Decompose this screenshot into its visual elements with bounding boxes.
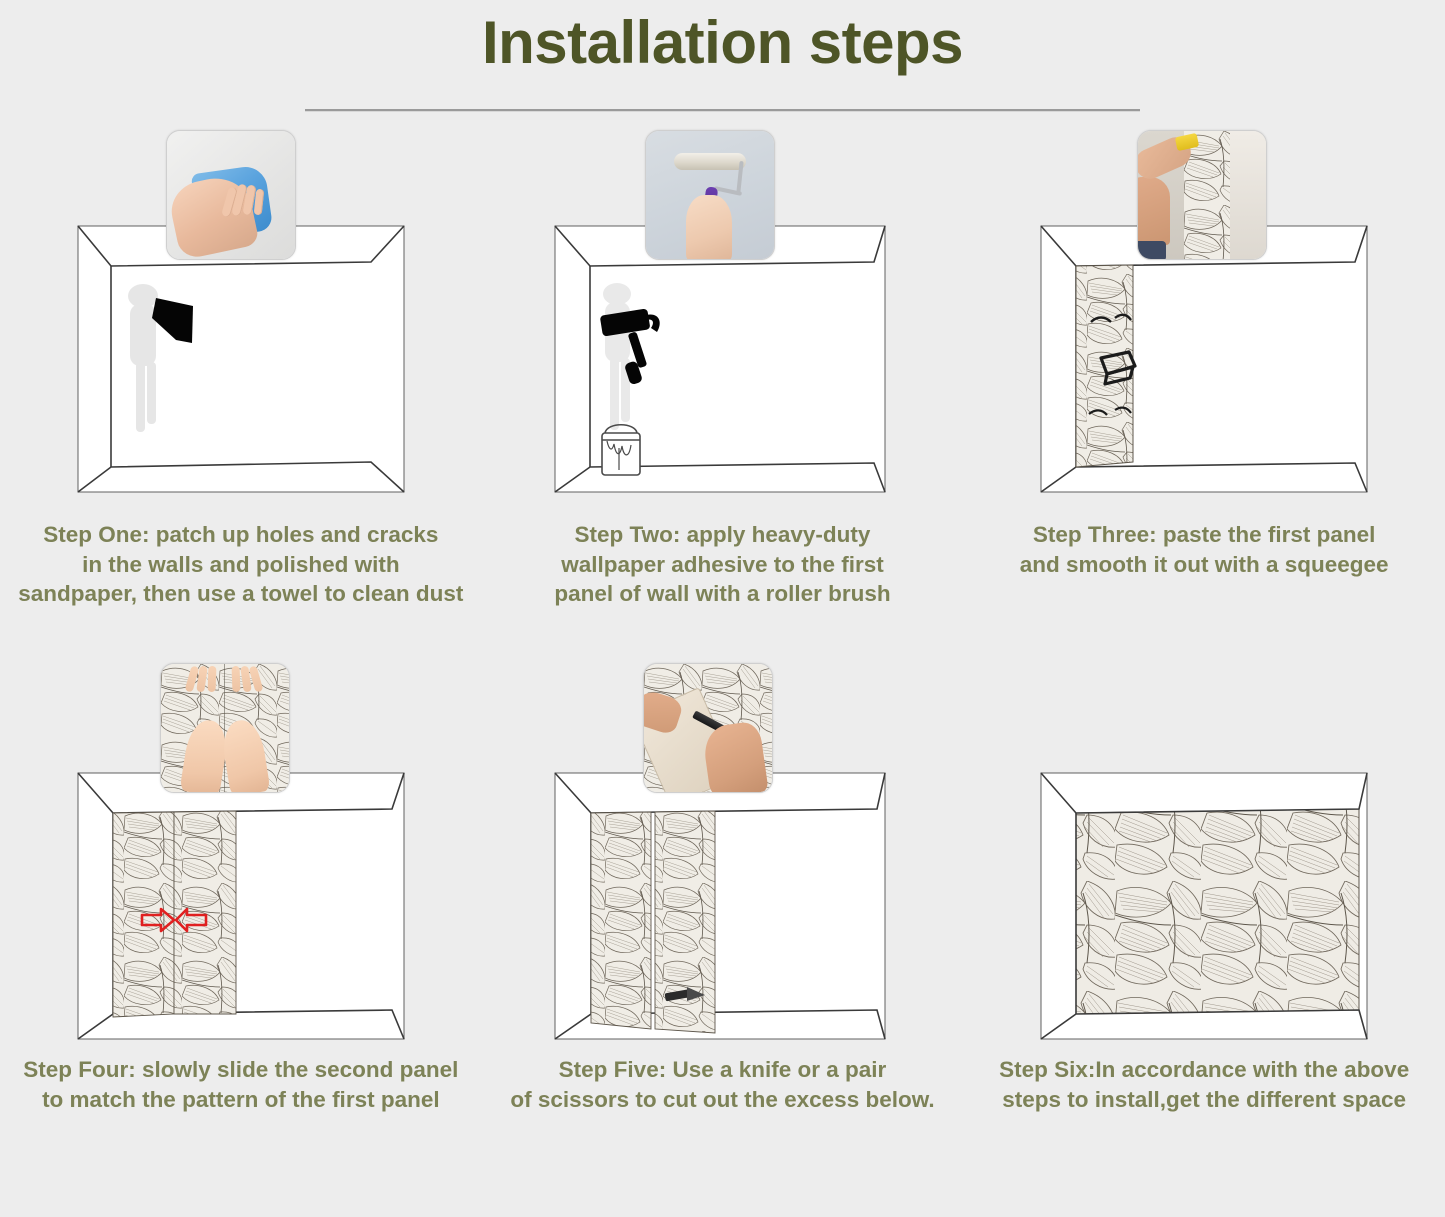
step-five-card: Step Five: Use a knife or a pair of scis…: [482, 661, 964, 1196]
caption-line: steps to install,get the different space: [969, 1085, 1439, 1115]
caption-line: Step Two: apply heavy-duty: [487, 520, 957, 550]
step-four-inset-photo: [160, 663, 290, 793]
room-diagram-step-six: [1029, 661, 1379, 1051]
caption-line: Step Five: Use a knife or a pair: [487, 1055, 957, 1085]
caption-line: in the walls and polished with: [6, 550, 476, 580]
step-four-card: Step Four: slowly slide the second panel…: [0, 661, 482, 1196]
caption-line: sandpaper, then use a towel to clean dus…: [6, 579, 476, 609]
step-five-caption: Step Five: Use a knife or a pair of scis…: [487, 1055, 957, 1114]
step-one-card: Step One: patch up holes and cracks in t…: [0, 126, 482, 661]
wallpaper-full-wall: [1076, 809, 1359, 1014]
page-header: Installation steps: [0, 0, 1445, 112]
step-three-caption: Step Three: paste the first panel and sm…: [969, 520, 1439, 579]
inset-wallpaper-pattern: [1184, 131, 1230, 259]
step-five-inset-photo: [643, 663, 773, 793]
caption-line: wallpaper adhesive to the first: [487, 550, 957, 580]
step-one-illustration: [66, 126, 416, 516]
step-three-inset-photo: [1137, 130, 1267, 260]
step-two-caption: Step Two: apply heavy-duty wallpaper adh…: [487, 520, 957, 609]
caption-line: Step One: patch up holes and cracks: [6, 520, 476, 550]
caption-line: Step Three: paste the first panel: [969, 520, 1439, 550]
step-five-illustration: [547, 661, 897, 1051]
caption-line: Step Four: slowly slide the second panel: [6, 1055, 476, 1085]
caption-line: and smooth it out with a squeegee: [969, 550, 1439, 580]
inset-wallpaper-pattern: [161, 664, 289, 792]
installation-steps-grid: Step One: patch up holes and cracks in t…: [0, 126, 1445, 1196]
title-divider: [305, 109, 1140, 112]
step-six-card: Step Six:In accordance with the above st…: [963, 661, 1445, 1196]
page-title: Installation steps: [0, 10, 1445, 76]
caption-line: Step Six:In accordance with the above: [969, 1055, 1439, 1085]
step-four-illustration: [66, 661, 416, 1051]
step-two-inset-photo: [645, 130, 775, 260]
step-two-card: Step Two: apply heavy-duty wallpaper adh…: [482, 126, 964, 661]
caption-line: to match the pattern of the first panel: [6, 1085, 476, 1115]
step-two-illustration: [547, 126, 897, 516]
caption-line: of scissors to cut out the excess below.: [487, 1085, 957, 1115]
caption-line: panel of wall with a roller brush: [487, 579, 957, 609]
wallpaper-panels: [113, 811, 236, 1017]
step-six-illustration: [1029, 661, 1379, 1051]
step-four-caption: Step Four: slowly slide the second panel…: [6, 1055, 476, 1114]
step-one-inset-photo: [166, 130, 296, 260]
step-one-caption: Step One: patch up holes and cracks in t…: [6, 520, 476, 609]
step-three-card: Step Three: paste the first panel and sm…: [963, 126, 1445, 661]
step-three-illustration: [1029, 126, 1379, 516]
step-six-caption: Step Six:In accordance with the above st…: [969, 1055, 1439, 1114]
